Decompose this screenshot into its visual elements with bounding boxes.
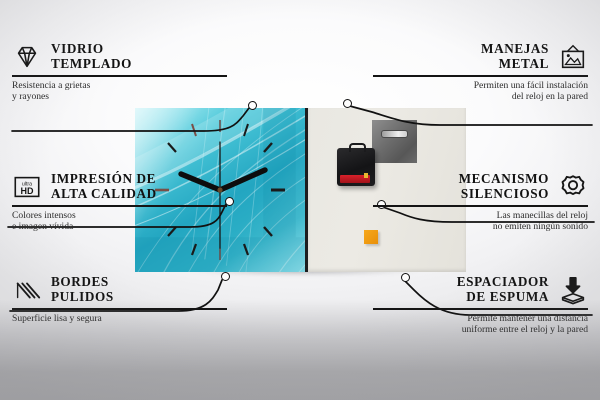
infographic-canvas: VIDRIO TEMPLADO Resistencia a grietas y … (0, 0, 600, 400)
canvas-vignette (0, 0, 600, 400)
